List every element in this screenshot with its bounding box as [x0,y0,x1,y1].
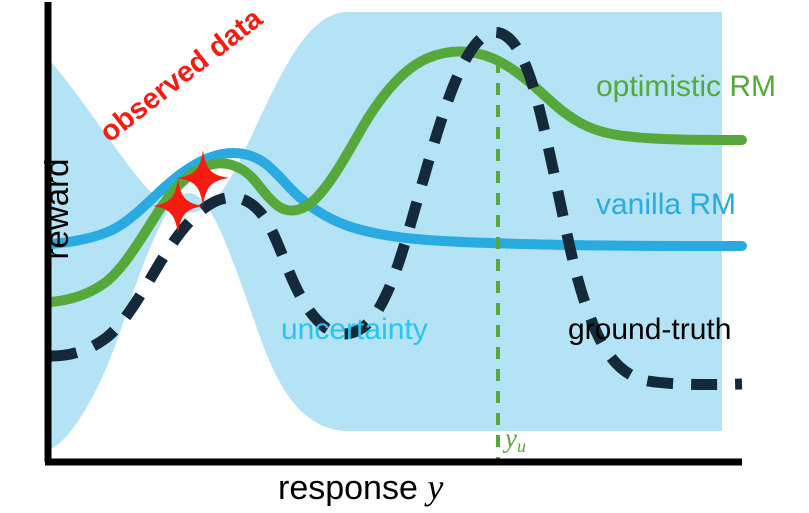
yu-base: y [505,423,517,453]
annotation-yu-label: yu [505,423,526,457]
legend-label-uncertainty: uncertainty [281,313,428,347]
yu-subscript: u [517,436,526,456]
legend-label-optimistic-rm: optimistic RM [596,70,776,104]
x-axis-label-math: y [427,467,443,507]
figure-container: optimistic RM vanilla RM uncertainty gro… [0,0,809,513]
y-axis-label: reward [38,139,76,279]
legend-label-vanilla-rm: vanilla RM [596,188,736,222]
legend-label-ground-truth: ground-truth [568,313,731,347]
x-axis-label: response y [278,466,443,508]
x-axis-label-text: response [278,469,418,507]
